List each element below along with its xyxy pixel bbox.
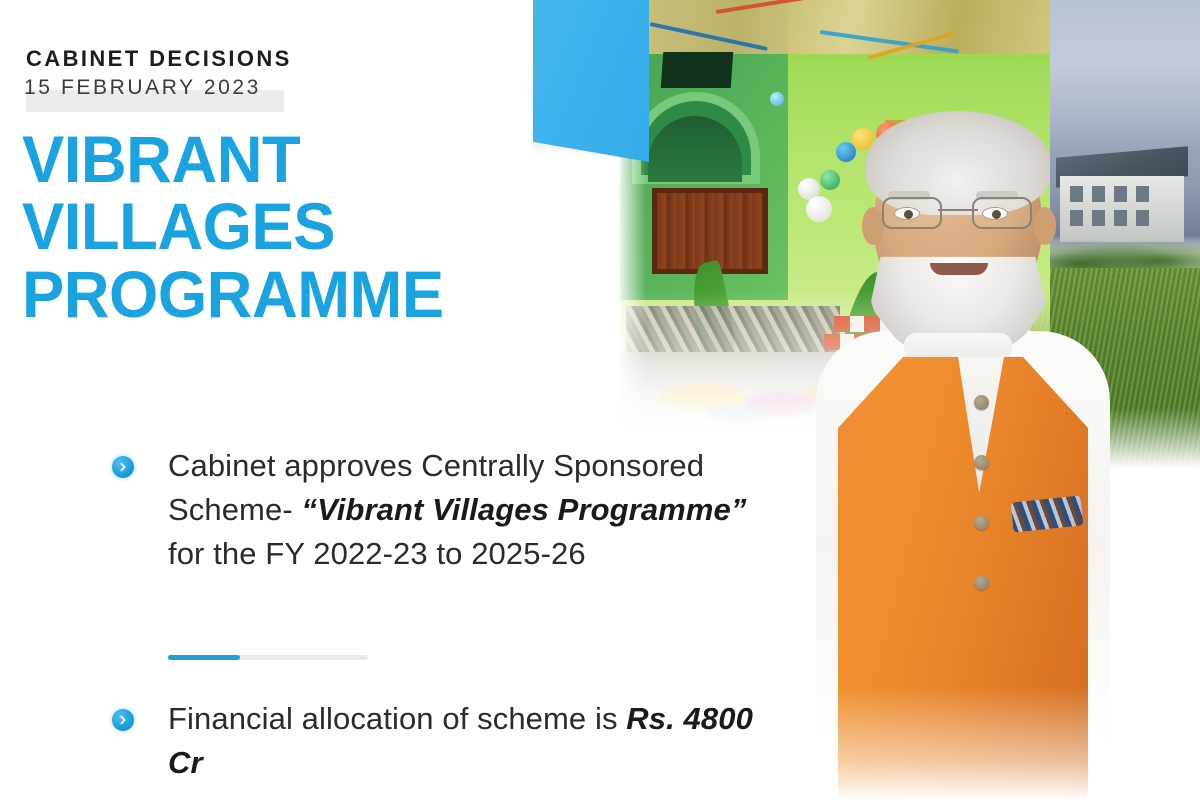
list-item: Cabinet approves Centrally Sponsored Sch… [112,444,752,576]
decorated-village-house-photo [620,0,1050,440]
eyebrow-left [888,191,930,200]
building-window [1114,210,1127,226]
vest-pocket-pens [1011,495,1084,532]
balloon [876,122,900,146]
eyebrow-right [976,191,1018,200]
building-window [1092,186,1105,202]
house-courtyard-ground [620,352,1050,440]
building-window [1070,186,1083,202]
blue-shape-shadow [531,138,651,154]
building-window [1136,210,1149,226]
hair [866,111,1050,215]
hillside-building-photo [1030,0,1200,470]
pupil-left [904,210,913,219]
bullet-1-seg-3: for the FY 2022-23 to 2025-26 [168,536,586,571]
building-body [1060,176,1184,242]
eyebrow-label: CABINET DECISIONS [26,46,292,72]
blue-accent-shape [533,0,649,162]
house-step [824,334,1020,350]
toran-figure [882,122,908,144]
divider-fill [168,655,240,660]
balloon [770,92,784,106]
streamer [650,22,768,51]
infographic-poster: CABINET DECISIONS 15 FEBRUARY 2023 VIBRA… [0,0,1200,800]
house-wooden-window [652,188,768,274]
balloon [852,128,874,150]
date-label: 15 FEBRUARY 2023 [24,76,261,100]
house-vent [661,52,734,88]
bullet-1-seg-2: “Vibrant Villages Programme” [301,492,746,527]
streamer [867,31,955,60]
balloon [798,178,820,200]
white-kurta [816,331,1110,800]
balloon [820,170,840,190]
house-step [816,352,1028,368]
streamer [820,30,959,53]
door-lintel [885,120,989,136]
page-title: VIBRANT VILLAGES PROGRAMME [22,126,521,328]
bullet-2-seg-1: Financial allocation of scheme is [168,701,626,736]
toran-figure [942,122,968,144]
building-window [1070,210,1083,226]
mouth [930,263,988,275]
lens-right [972,197,1032,229]
decorative-toran-canopy [620,0,1050,54]
balloon [806,196,832,222]
house-wall [620,0,1050,440]
hillside-shrubs [1030,236,1200,282]
beard [870,221,1046,359]
toran-figure [912,122,938,144]
ear [1034,207,1056,245]
chevron-right-circle-icon [112,456,134,478]
section-divider [168,655,368,660]
house-gable-inner [648,116,742,182]
banana-leaf [684,260,744,385]
title-line-2: VILLAGES [22,193,521,260]
title-line-1: VIBRANT [22,126,521,193]
ear [862,207,884,245]
glasses-bridge [938,209,978,211]
date-block: 15 FEBRUARY 2023 [24,76,261,100]
building-window [1092,210,1105,226]
house-plinth [626,306,840,352]
pupil-right [992,210,1001,219]
streamer [716,0,811,14]
chevron-right-circle-icon [112,709,134,731]
neck [918,275,996,361]
banana-leaf [836,268,890,376]
image-collage [0,0,1200,800]
building-window [1114,186,1127,202]
house-door-curtain [892,128,982,318]
bullet-text-1: Cabinet approves Centrally Sponsored Sch… [168,444,752,576]
vest-button [974,395,989,410]
house-gable-arch [632,92,760,184]
bullet-list: Cabinet approves Centrally Sponsored Sch… [112,444,752,576]
building-window [1136,186,1149,202]
lens-left [882,197,942,229]
house-photo-left-feather [600,0,646,440]
rangoli-decoration [708,404,768,424]
building-roof [1056,146,1188,188]
eye-right [982,207,1008,220]
face [874,123,1042,319]
vest-button [974,455,989,470]
rangoli-decoration [744,392,816,416]
bullet-text-2: Financial allocation of scheme is Rs. 48… [168,697,772,785]
house-step [834,316,1010,332]
vest-button [974,515,989,530]
rangoli-decoration [660,384,746,410]
balloon [836,142,856,162]
vest-button [974,575,989,590]
eye-left [894,207,920,220]
prime-minister-portrait [800,95,1120,800]
list-item: Financial allocation of scheme is Rs. 48… [112,697,772,785]
green-field [1030,268,1200,468]
vest-opening [958,357,1004,493]
bullet-list-2: Financial allocation of scheme is Rs. 48… [112,697,772,785]
rangoli-decoration [806,382,870,404]
house-wall-shadow-side [620,0,788,300]
orange-vest [838,357,1088,800]
eyeglasses [876,197,1040,231]
kurta-collar [904,333,1012,377]
title-line-3: PROGRAMME [22,261,521,328]
